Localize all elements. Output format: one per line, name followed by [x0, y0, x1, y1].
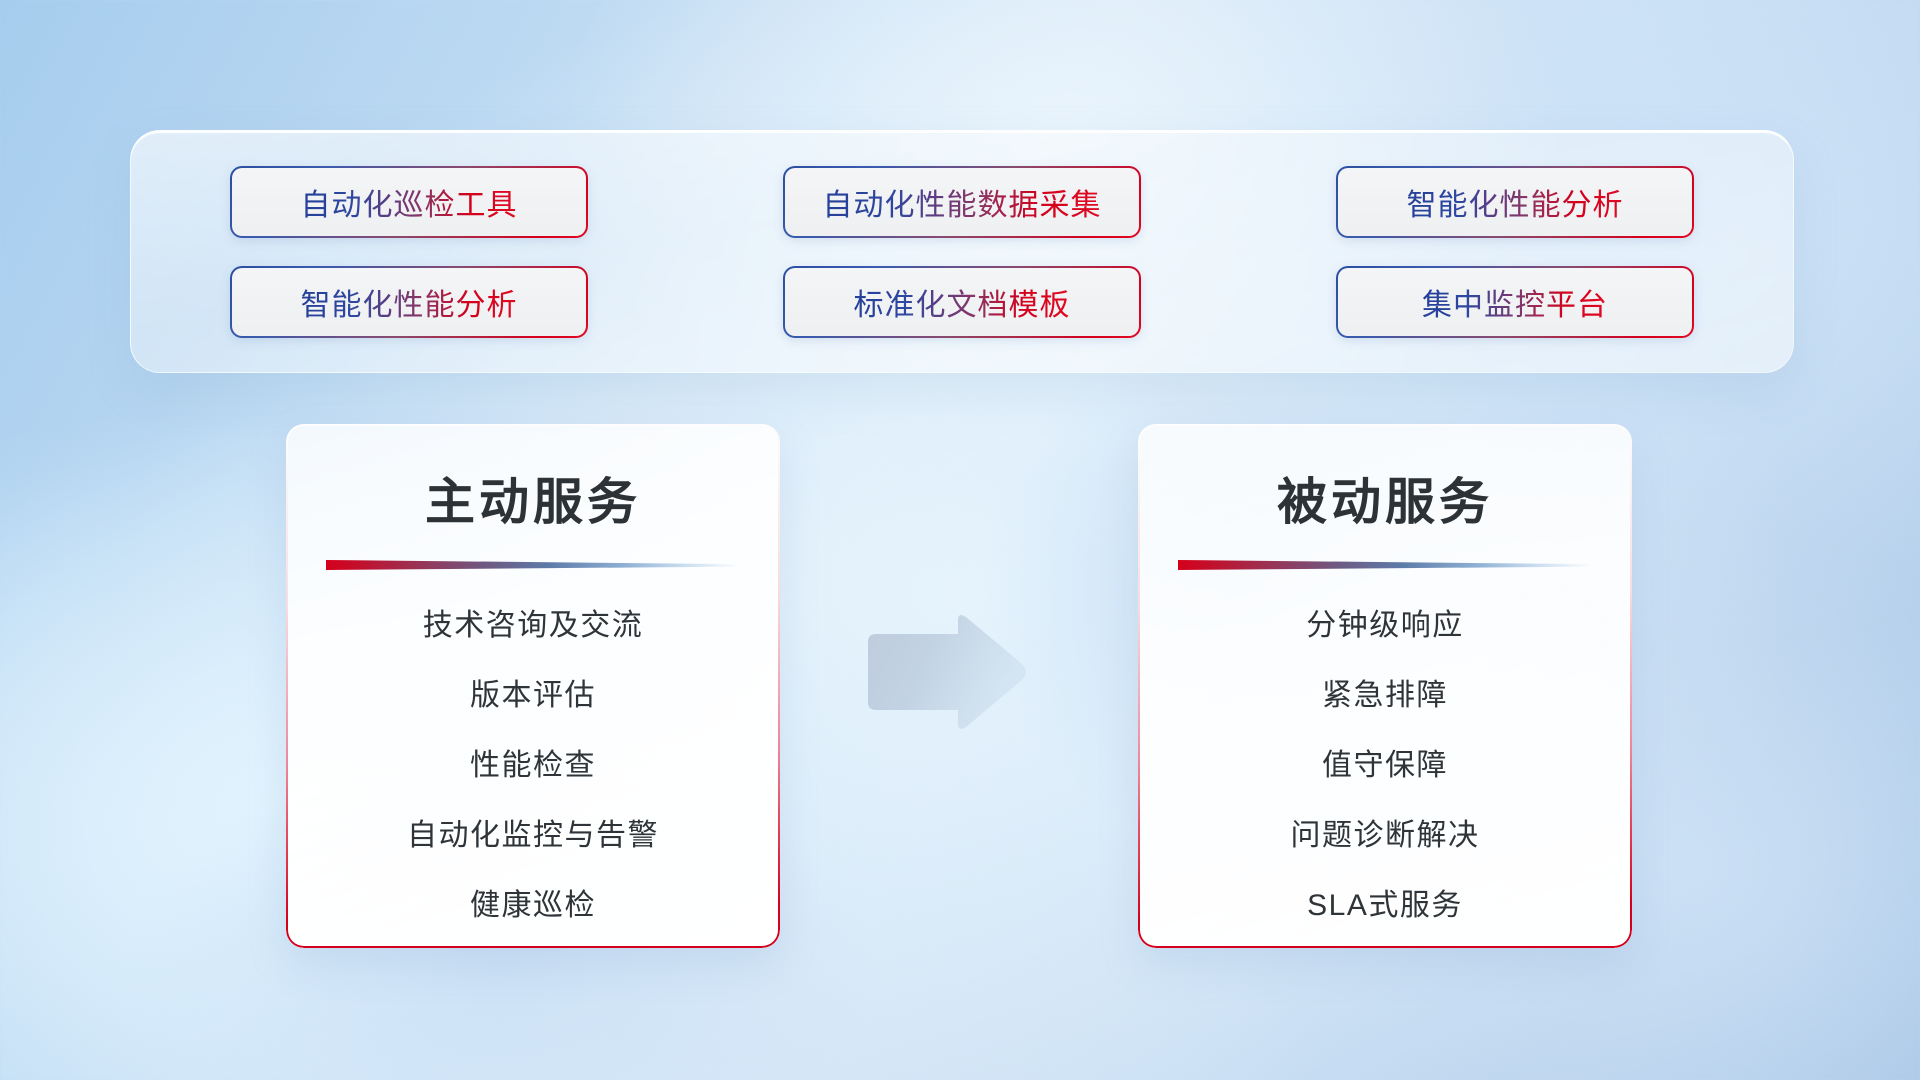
service-card-proactive-list: 技术咨询及交流 版本评估 性能检查 自动化监控与告警 健康巡检 [286, 600, 780, 924]
list-item: 紧急排障 [1322, 670, 1448, 714]
service-card-proactive-divider [326, 560, 740, 570]
capability-pill-3-inner: 智能化性能分析 [1338, 168, 1692, 236]
service-card-proactive[interactable]: 主动服务 技术咨询及交流 版本评估 性能检查 自动化监控与告警 健康巡检 [286, 424, 780, 948]
capability-pill-1[interactable]: 自动化巡检工具 [230, 166, 588, 238]
capability-pill-grid: 自动化巡检工具 自动化性能数据采集 智能化性能分析 智能化性能分析 [230, 166, 1694, 338]
capability-pill-2-inner: 自动化性能数据采集 [785, 168, 1139, 236]
service-card-reactive-title: 被动服务 [1138, 462, 1632, 534]
capability-pill-5-inner: 标准化文档模板 [785, 268, 1139, 336]
service-card-proactive-title: 主动服务 [286, 462, 780, 534]
capability-pill-4-label: 智能化性能分析 [301, 280, 518, 324]
capability-pill-4-inner: 智能化性能分析 [232, 268, 586, 336]
capability-pill-3[interactable]: 智能化性能分析 [1336, 166, 1694, 238]
list-item: 版本评估 [470, 670, 596, 714]
capability-pill-6-label: 集中监控平台 [1422, 280, 1608, 324]
list-item: 技术咨询及交流 [423, 600, 644, 644]
list-item: 自动化监控与告警 [407, 810, 659, 854]
capability-panel: 自动化巡检工具 自动化性能数据采集 智能化性能分析 智能化性能分析 [130, 130, 1794, 373]
divider-bar [326, 560, 740, 570]
capability-pill-4[interactable]: 智能化性能分析 [230, 266, 588, 338]
list-item: 问题诊断解决 [1291, 810, 1480, 854]
capability-pill-1-inner: 自动化巡检工具 [232, 168, 586, 236]
capability-pill-2[interactable]: 自动化性能数据采集 [783, 166, 1141, 238]
service-card-reactive[interactable]: 被动服务 分钟级响应 紧急排障 值守保障 问题诊断解决 SLA式服务 [1138, 424, 1632, 948]
capability-pill-6-inner: 集中监控平台 [1338, 268, 1692, 336]
list-item: 值守保障 [1322, 740, 1448, 784]
list-item: 健康巡检 [470, 880, 596, 924]
capability-pill-5[interactable]: 标准化文档模板 [783, 266, 1141, 338]
service-card-reactive-list: 分钟级响应 紧急排障 值守保障 问题诊断解决 SLA式服务 [1138, 600, 1632, 924]
list-item: 分钟级响应 [1306, 600, 1464, 644]
diagram-stage: 自动化巡检工具 自动化性能数据采集 智能化性能分析 智能化性能分析 [0, 0, 1920, 1080]
capability-pill-6[interactable]: 集中监控平台 [1336, 266, 1694, 338]
list-item: 性能检查 [470, 740, 596, 784]
list-item: SLA式服务 [1307, 880, 1463, 924]
capability-pill-2-label: 自动化性能数据采集 [823, 180, 1102, 224]
arrow-right-icon [862, 612, 1028, 732]
capability-pill-3-label: 智能化性能分析 [1407, 180, 1624, 224]
capability-pill-5-label: 标准化文档模板 [854, 280, 1071, 324]
divider-bar [1178, 560, 1592, 570]
service-card-reactive-divider [1178, 560, 1592, 570]
capability-pill-1-label: 自动化巡检工具 [301, 180, 518, 224]
